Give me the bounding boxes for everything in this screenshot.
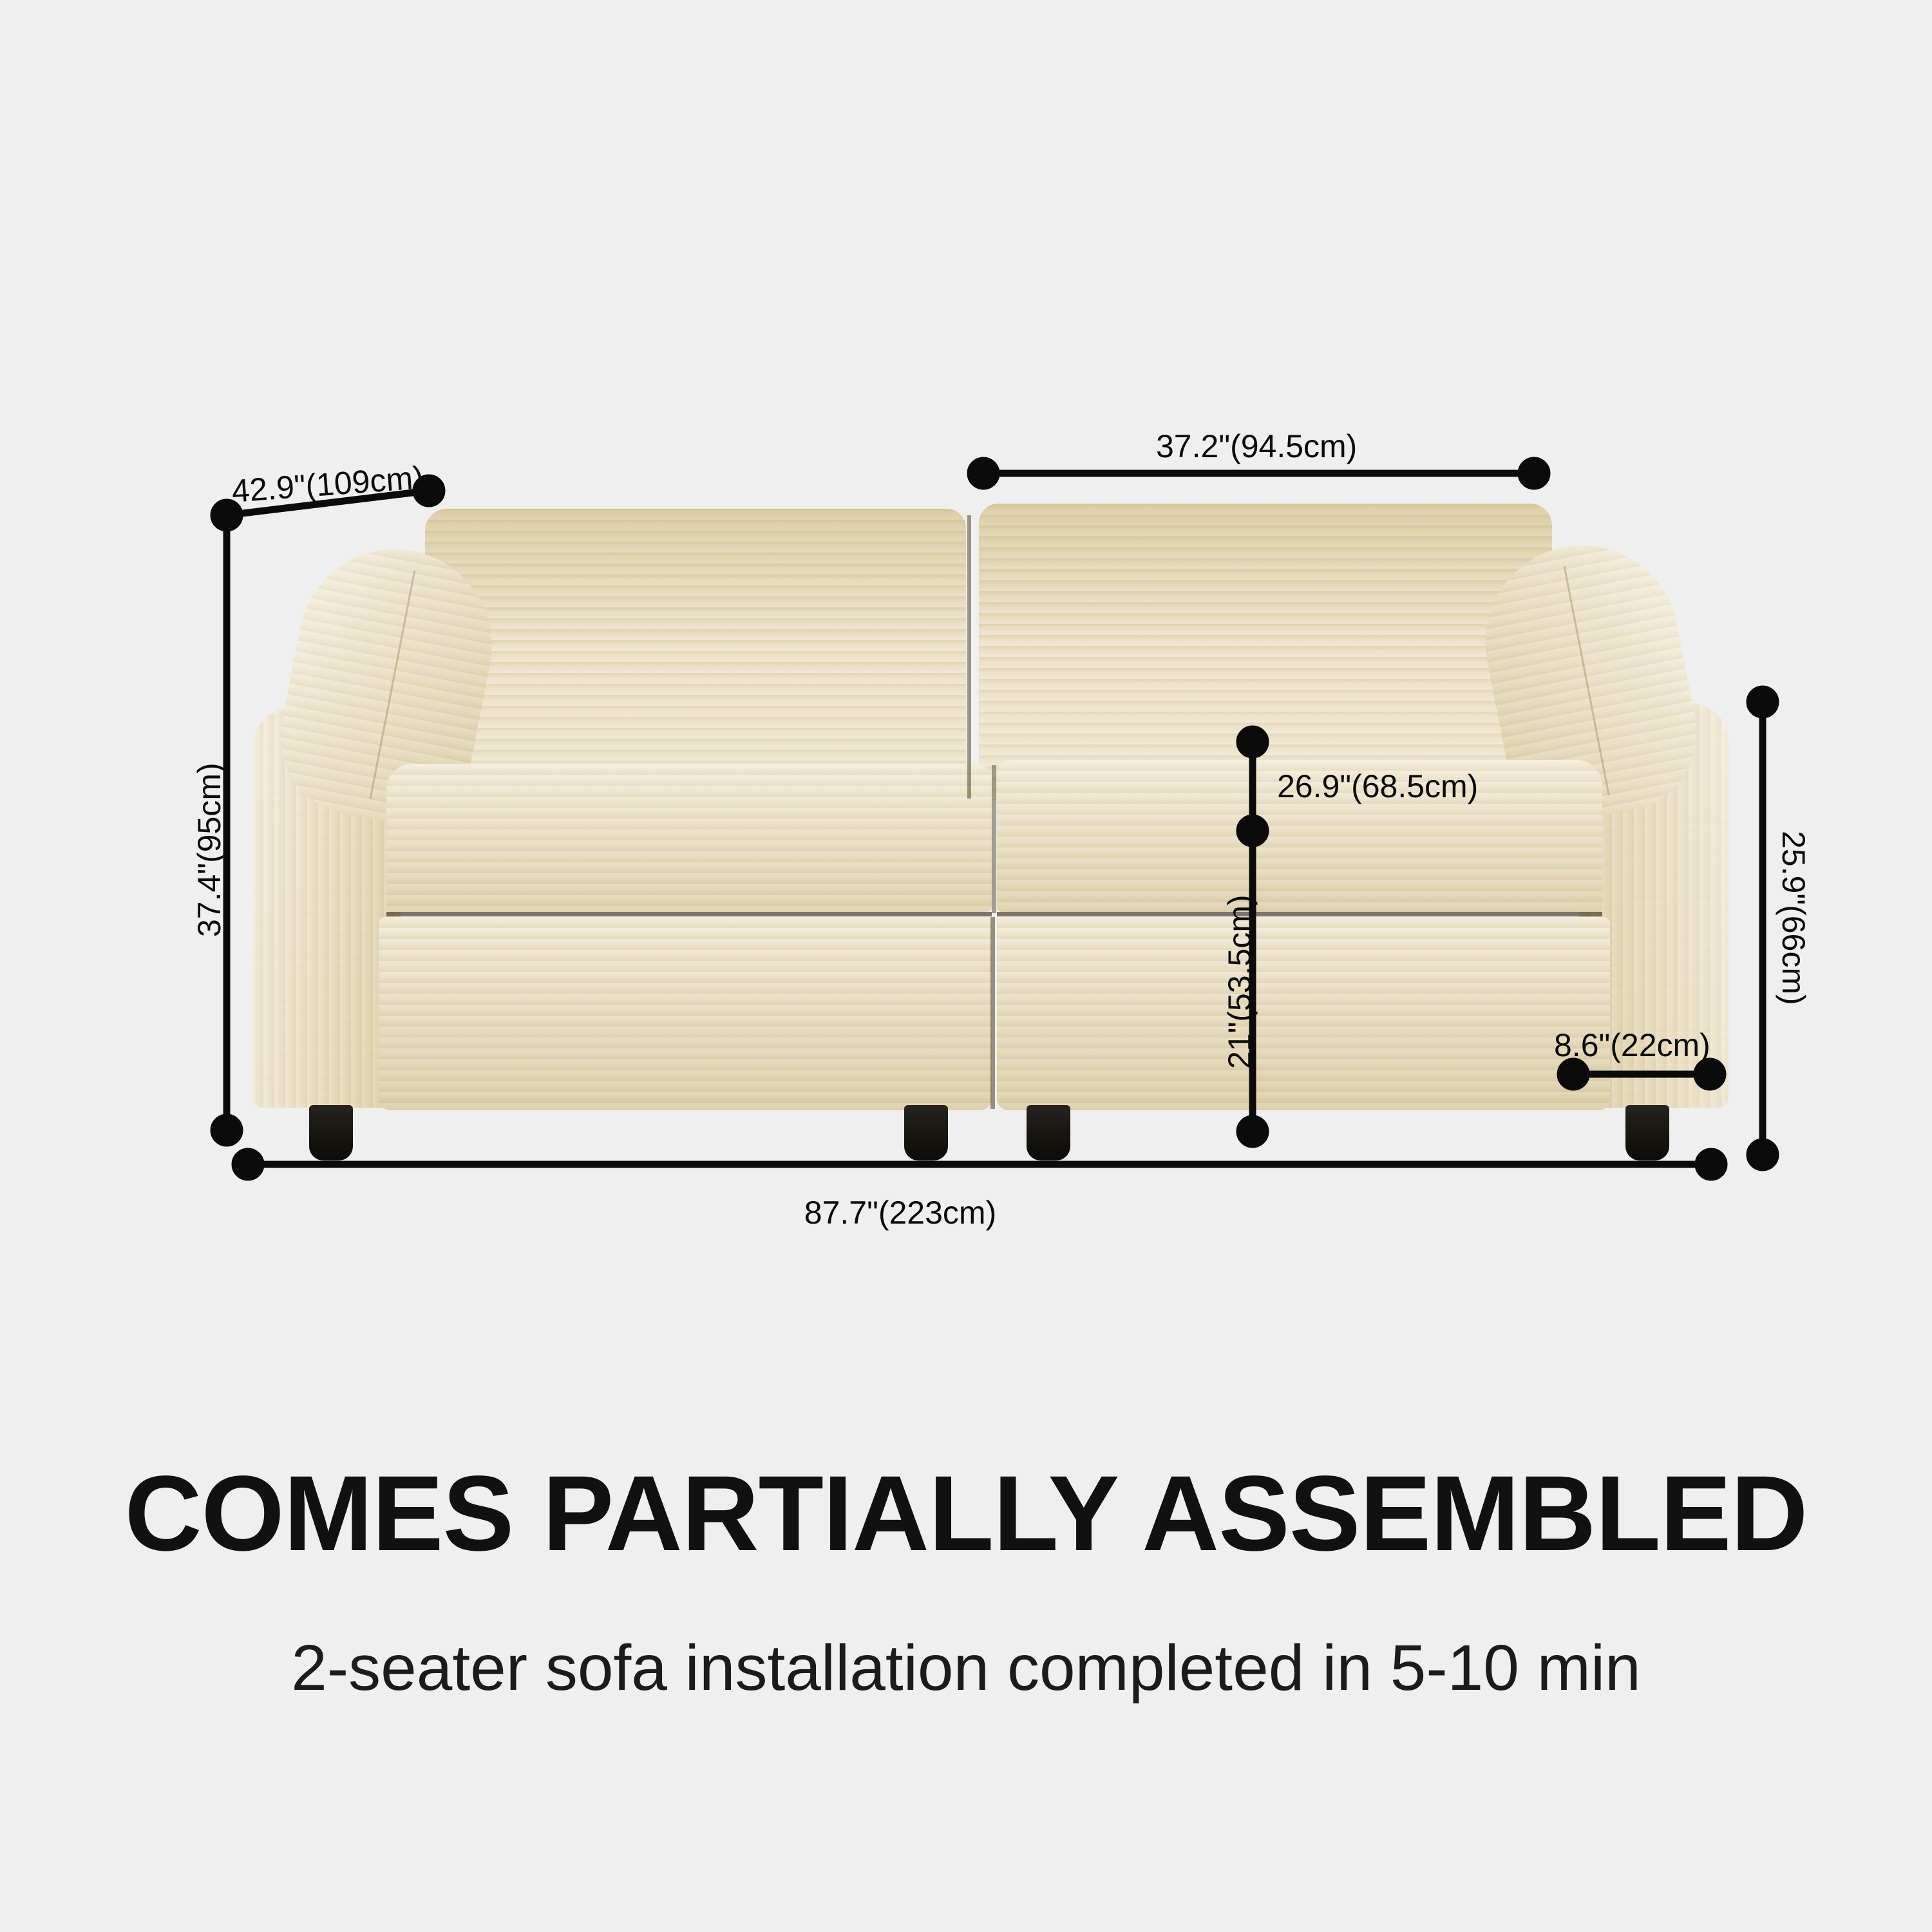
- dimension-label-back-width: 37.2"(94.5cm): [1156, 430, 1357, 462]
- dimension-label-arm-width: 8.6"(22cm): [1554, 1029, 1710, 1061]
- base-module-right: [997, 917, 1610, 1110]
- subheadline: 2-seater sofa installation completed in …: [0, 1636, 1932, 1700]
- dimension-label-seat-depth: 21"(53.5cm): [1224, 895, 1256, 1069]
- base-module-left: [379, 917, 992, 1110]
- seam-seat-base-right: [997, 912, 1602, 916]
- dimension-label-arm-height: 25.9"(66cm): [1777, 831, 1810, 1005]
- seam-seat-base-left: [386, 912, 992, 916]
- dimension-label-total-width: 87.7"(223cm): [804, 1197, 996, 1229]
- back-cushion-right: [979, 504, 1552, 800]
- seam-back-center: [967, 515, 971, 799]
- dimension-diagram-canvas: 42.9"(109cm) 37.2"(94.5cm) 37.4"(95cm) 2…: [0, 0, 1932, 1932]
- dimension-label-seat-back: 26.9"(68.5cm): [1277, 770, 1478, 802]
- dimension-label-height: 37.4"(95cm): [193, 762, 225, 937]
- leg-front-left: [309, 1105, 353, 1160]
- leg-front-right: [1625, 1105, 1669, 1160]
- seam-base-center: [990, 917, 995, 1109]
- back-cushion-left: [425, 509, 966, 799]
- seam-seat-center: [992, 765, 996, 913]
- headline: COMES PARTIALLY ASSEMBLED: [0, 1461, 1932, 1567]
- seat-cushion-left: [386, 764, 992, 912]
- leg-center-left: [904, 1105, 948, 1160]
- leg-center-right: [1027, 1105, 1070, 1160]
